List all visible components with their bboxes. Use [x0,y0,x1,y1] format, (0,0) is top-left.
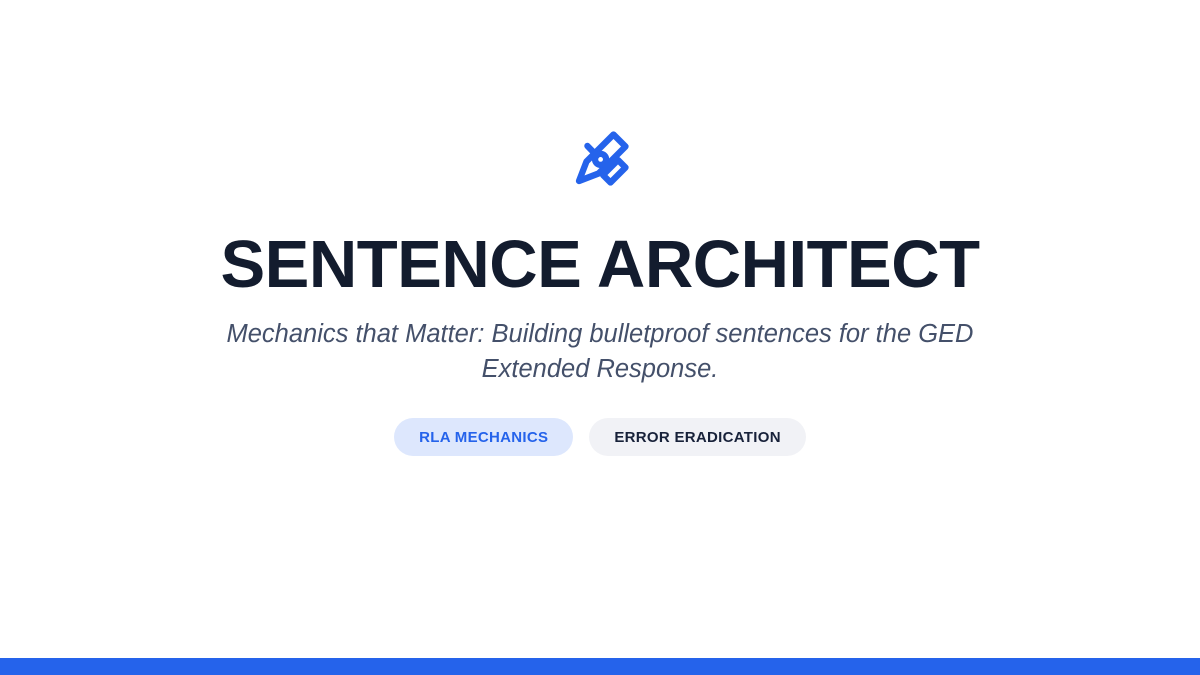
status-badge-error-eradication[interactable]: ERROR ERADICATION [589,418,806,456]
page-title: SENTENCE ARCHITECT [220,230,979,300]
pen-tool-icon [564,124,636,196]
status-badge-rla-mechanics[interactable]: RLA MECHANICS [394,418,573,456]
bottom-accent-bar [0,658,1200,675]
page-subtitle: Mechanics that Matter: Building bulletpr… [220,317,980,387]
hero-content: SENTENCE ARCHITECT Mechanics that Matter… [0,0,1200,658]
title-slide: SENTENCE ARCHITECT Mechanics that Matter… [0,0,1200,675]
badge-row: RLA MECHANICS ERROR ERADICATION [394,418,806,456]
